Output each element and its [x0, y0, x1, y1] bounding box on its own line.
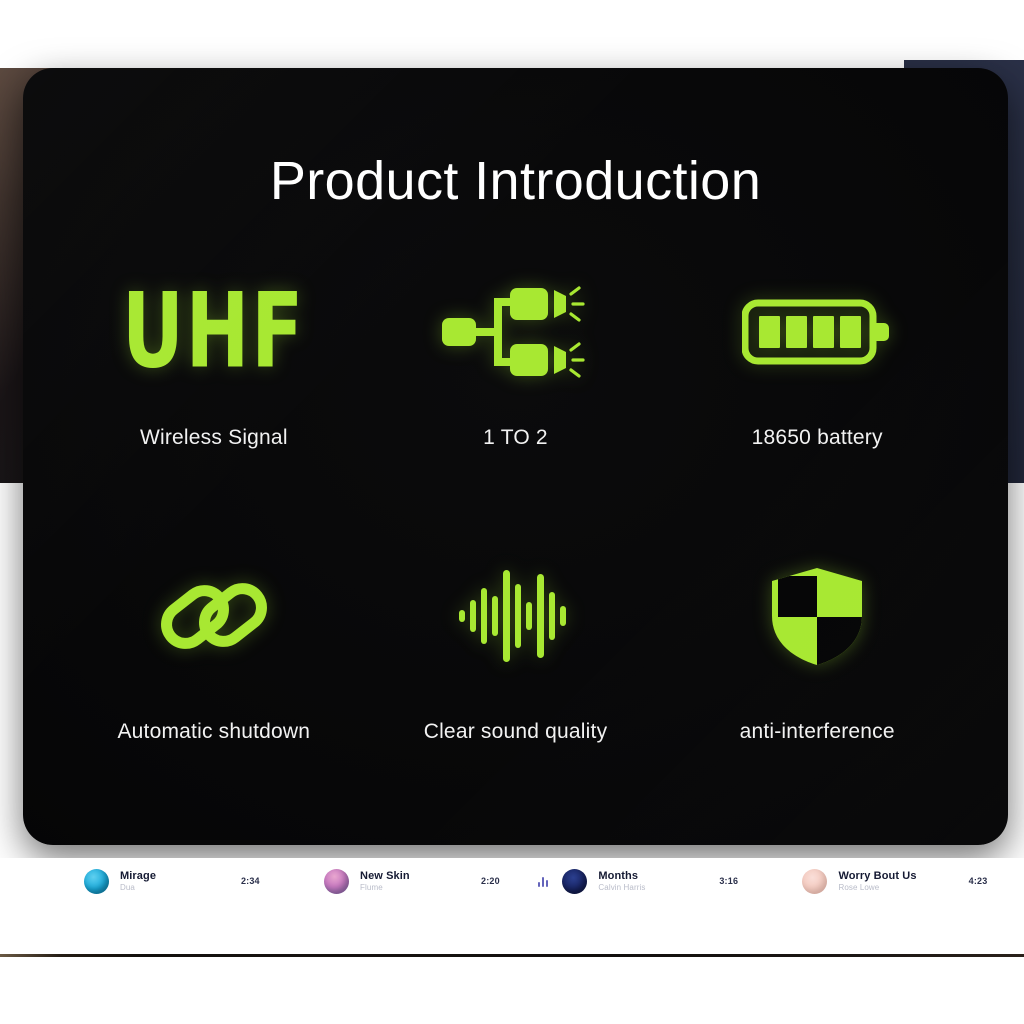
sound-waveform-icon — [455, 552, 575, 680]
track-artist: Flume — [360, 883, 410, 893]
feature-label: Clear sound quality — [424, 720, 608, 744]
track-meta: New Skin Flume — [360, 870, 410, 892]
feature-wireless-signal: UHF Wireless Signal — [63, 268, 365, 552]
album-art-thumbnail — [84, 869, 109, 894]
track-title: Months — [598, 870, 645, 883]
list-item[interactable]: Months Calvin Harris — [562, 869, 719, 894]
feature-automatic-shutdown: Automatic shutdown — [63, 552, 365, 836]
list-item[interactable]: New Skin Flume — [324, 869, 481, 894]
chain-link-icon — [154, 552, 274, 680]
feature-label: 18650 battery — [752, 426, 883, 450]
album-art-thumbnail — [562, 869, 587, 894]
uhf-wordmark-icon: UHF — [114, 268, 313, 396]
equalizer-playing-icon — [538, 876, 548, 887]
track-title: Worry Bout Us — [838, 870, 916, 883]
feature-label: Automatic shutdown — [117, 720, 310, 744]
feature-label: Wireless Signal — [140, 426, 288, 450]
page-title: Product Introduction — [23, 154, 1008, 208]
track-artist: Rose Lowe — [838, 883, 916, 893]
one-to-two-network-icon — [440, 268, 590, 396]
track-duration: 2:20 — [481, 876, 538, 886]
shield-icon — [765, 552, 869, 680]
track-duration: 3:16 — [719, 876, 802, 886]
feature-sound-quality: Clear sound quality — [365, 552, 667, 836]
track-meta: Worry Bout Us Rose Lowe — [838, 870, 916, 892]
track-artist: Dua — [120, 883, 156, 893]
track-duration: 2:34 — [241, 876, 324, 886]
feature-label: 1 TO 2 — [483, 426, 548, 450]
feature-label: anti-interference — [740, 720, 895, 744]
track-artist: Calvin Harris — [598, 883, 645, 893]
feature-grid: UHF Wireless Signal — [63, 268, 968, 836]
album-art-thumbnail — [324, 869, 349, 894]
track-title: Mirage — [120, 870, 156, 883]
track-title: New Skin — [360, 870, 410, 883]
product-introduction-slide: Product Introduction UHF Wireless Signal — [23, 68, 1008, 845]
bottom-divider — [0, 954, 1024, 957]
battery-full-icon — [742, 268, 892, 396]
track-duration: 4:23 — [969, 876, 1024, 886]
background-top-gap — [0, 0, 1024, 68]
track-meta: Mirage Dua — [120, 870, 156, 892]
uhf-mark-text: UHF — [122, 280, 305, 383]
list-item[interactable]: Mirage Dua — [84, 869, 241, 894]
music-player-strip[interactable]: Mirage Dua 2:34 New Skin Flume 2:20 Mont… — [0, 858, 1024, 904]
screenshot-stage: Product Introduction UHF Wireless Signal — [0, 0, 1024, 1024]
feature-one-to-two: 1 TO 2 — [365, 268, 667, 552]
track-meta: Months Calvin Harris — [598, 870, 645, 892]
list-item[interactable]: Worry Bout Us Rose Lowe — [802, 869, 968, 894]
album-art-thumbnail — [802, 869, 827, 894]
feature-battery: 18650 battery — [666, 268, 968, 552]
feature-anti-interference: anti-interference — [666, 552, 968, 836]
